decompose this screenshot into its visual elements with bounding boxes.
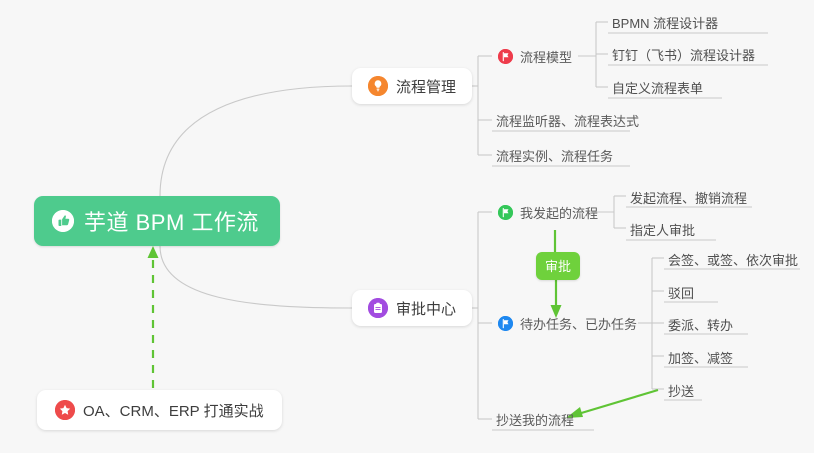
node-start-cancel-process[interactable]: 发起流程、撤销流程 [624, 185, 753, 209]
node-listener-expression[interactable]: 流程监听器、流程表达式 [490, 108, 645, 132]
node-label: 流程监听器、流程表达式 [496, 111, 639, 130]
thumbs-up-icon [52, 210, 74, 232]
flag-blue-icon [498, 316, 513, 331]
root-label: 芋道 BPM 工作流 [84, 205, 259, 237]
node-instance-task[interactable]: 流程实例、流程任务 [490, 143, 619, 167]
node-custom-form[interactable]: 自定义流程表单 [606, 75, 709, 99]
bottom-card-integration[interactable]: OA、CRM、ERP 打通实战 [37, 390, 282, 430]
node-label: 驳回 [668, 283, 694, 302]
node-label: 流程实例、流程任务 [496, 146, 613, 165]
node-todo-done-tasks[interactable]: 待办任务、已办任务 [492, 311, 643, 335]
clipboard-icon [368, 298, 388, 318]
node-carbon-copy[interactable]: 抄送 [662, 378, 700, 402]
node-reject[interactable]: 驳回 [662, 280, 700, 304]
flag-red-icon [498, 49, 513, 64]
node-label: 加签、减签 [668, 348, 733, 367]
node-add-remove-sign[interactable]: 加签、减签 [662, 345, 739, 369]
mindmap-canvas: 芋道 BPM 工作流 流程管理 流程模型 BPMN 流程设计器 钉钉（飞书）流程 [0, 0, 814, 453]
star-icon [55, 400, 75, 420]
node-my-initiated-process[interactable]: 我发起的流程 [492, 200, 604, 224]
node-label: 流程模型 [520, 47, 572, 66]
node-label: 我发起的流程 [520, 203, 598, 222]
bottom-card-label: OA、CRM、ERP 打通实战 [83, 400, 264, 421]
node-process-model[interactable]: 流程模型 [492, 44, 578, 68]
branch-process-management[interactable]: 流程管理 [352, 68, 472, 104]
node-dingtalk-feishu-designer[interactable]: 钉钉（飞书）流程设计器 [606, 42, 761, 66]
node-label: 委派、转办 [668, 315, 733, 334]
node-cc-to-me[interactable]: 抄送我的流程 [490, 407, 580, 431]
flag-green-icon [498, 205, 513, 220]
node-label: 抄送 [668, 381, 694, 400]
node-bpmn-designer[interactable]: BPMN 流程设计器 [606, 10, 724, 34]
dashed-arrow-up [148, 246, 159, 388]
branch-label: 流程管理 [396, 76, 456, 97]
branch-label: 审批中心 [396, 298, 456, 319]
annotation-label: 审批 [545, 259, 571, 274]
branch-approval-center[interactable]: 审批中心 [352, 290, 472, 326]
node-label: 钉钉（飞书）流程设计器 [612, 45, 755, 64]
node-label: 待办任务、已办任务 [520, 314, 637, 333]
node-countersign[interactable]: 会签、或签、依次审批 [662, 247, 804, 271]
annotation-chip-approval[interactable]: 审批 [536, 252, 580, 280]
node-label: 抄送我的流程 [496, 410, 574, 429]
lightbulb-icon [368, 76, 388, 96]
node-delegate-transfer[interactable]: 委派、转办 [662, 312, 739, 336]
root-node[interactable]: 芋道 BPM 工作流 [34, 196, 280, 246]
node-label: 发起流程、撤销流程 [630, 188, 747, 207]
node-label: BPMN 流程设计器 [612, 13, 718, 32]
node-label: 自定义流程表单 [612, 78, 703, 97]
node-assignee-approval[interactable]: 指定人审批 [624, 217, 701, 241]
node-label: 会签、或签、依次审批 [668, 250, 798, 269]
node-label: 指定人审批 [630, 220, 695, 239]
